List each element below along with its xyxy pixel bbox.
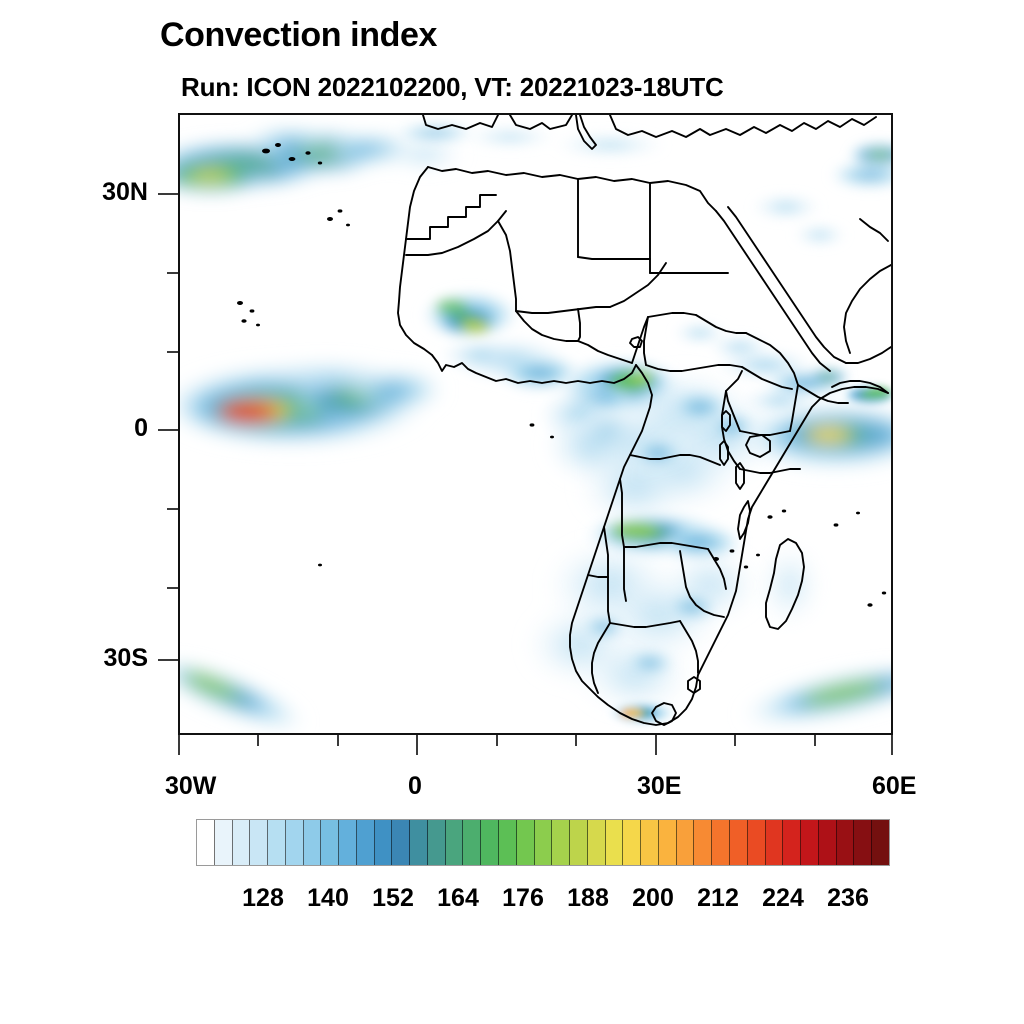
colorbar-cell-120 [197, 820, 215, 865]
y-tick-minor-10s [167, 508, 178, 510]
y-tick-major-0 [158, 429, 178, 431]
y-tick-minor-20n [167, 272, 178, 274]
colorbar-cell-188 [499, 820, 517, 865]
colorbar-cell-192 [517, 820, 535, 865]
y-axis-label-0: 0 [100, 414, 148, 443]
colorbar-cell-136 [268, 820, 286, 865]
colorbar-tick-176: 176 [502, 884, 544, 913]
colorbar-cell-244 [748, 820, 766, 865]
colorbar-cell-140 [286, 820, 304, 865]
colorbar-cell-164 [392, 820, 410, 865]
map-canvas [180, 115, 891, 733]
colorbar-cell-232 [694, 820, 712, 865]
colorbar-cell-132 [250, 820, 268, 865]
y-tick-major-30s [158, 659, 178, 661]
x-tick-minor-20e [575, 735, 577, 746]
colorbar-tick-128: 128 [242, 884, 284, 913]
colorbar-cell-268 [854, 820, 872, 865]
x-tick-major-60e [891, 735, 893, 755]
colorbar-tick-140: 140 [307, 884, 349, 913]
colorbar-cell-252 [783, 820, 801, 865]
colorbar-cell-180 [463, 820, 481, 865]
colorbar-cell-212 [606, 820, 624, 865]
convection-field [180, 123, 891, 733]
colorbar-tick-224: 224 [762, 884, 804, 913]
colorbar-cell-272 [872, 820, 889, 865]
colorbar[interactable] [196, 819, 890, 866]
colorbar-cell-168 [410, 820, 428, 865]
colorbar-cell-172 [428, 820, 446, 865]
y-tick-major-30n [158, 193, 178, 195]
colorbar-cell-144 [304, 820, 322, 865]
colorbar-cell-220 [641, 820, 659, 865]
x-tick-minor-10e [496, 735, 498, 746]
x-tick-major-30e [655, 735, 657, 755]
x-tick-major-30w [178, 735, 180, 755]
colorbar-cell-204 [570, 820, 588, 865]
x-tick-minor-20w [257, 735, 259, 746]
x-axis-label-60e: 60E [872, 772, 916, 801]
colorbar-cell-128 [233, 820, 251, 865]
x-tick-major-0 [416, 735, 418, 755]
colorbar-cell-256 [801, 820, 819, 865]
x-tick-minor-50e [814, 735, 816, 746]
colorbar-cell-208 [588, 820, 606, 865]
map-plot-area[interactable] [178, 113, 893, 735]
colorbar-tick-188: 188 [567, 884, 609, 913]
colorbar-cell-148 [321, 820, 339, 865]
colorbar-cell-216 [623, 820, 641, 865]
y-axis-label-30s: 30S [100, 644, 148, 673]
y-tick-minor-20s [167, 587, 178, 589]
colorbar-cell-124 [215, 820, 233, 865]
colorbar-cell-228 [677, 820, 695, 865]
colorbar-tick-200: 200 [632, 884, 674, 913]
x-axis-label-30e: 30E [637, 772, 681, 801]
x-tick-minor-10w [337, 735, 339, 746]
colorbar-cell-264 [837, 820, 855, 865]
colorbar-cell-248 [766, 820, 784, 865]
colorbar-cell-200 [552, 820, 570, 865]
colorbar-cell-260 [819, 820, 837, 865]
page-subtitle: Run: ICON 2022102200, VT: 20221023-18UTC [181, 72, 724, 103]
colorbar-tick-164: 164 [437, 884, 479, 913]
figure-root: Convection index Run: ICON 2022102200, V… [0, 0, 1024, 1024]
y-tick-minor-10n [167, 351, 178, 353]
colorbar-cell-236 [712, 820, 730, 865]
y-axis-label-30n: 30N [100, 178, 148, 207]
colorbar-cell-160 [375, 820, 393, 865]
x-axis-label-0: 0 [408, 772, 422, 801]
colorbar-cell-224 [659, 820, 677, 865]
colorbar-tick-236: 236 [827, 884, 869, 913]
colorbar-cell-240 [730, 820, 748, 865]
colorbar-tick-152: 152 [372, 884, 414, 913]
colorbar-cell-156 [357, 820, 375, 865]
x-tick-minor-40e [734, 735, 736, 746]
colorbar-cell-196 [535, 820, 553, 865]
colorbar-cell-152 [339, 820, 357, 865]
colorbar-tick-212: 212 [697, 884, 739, 913]
colorbar-cell-176 [446, 820, 464, 865]
page-title: Convection index [160, 16, 437, 55]
x-axis-label-30w: 30W [165, 772, 216, 801]
colorbar-cell-184 [481, 820, 499, 865]
